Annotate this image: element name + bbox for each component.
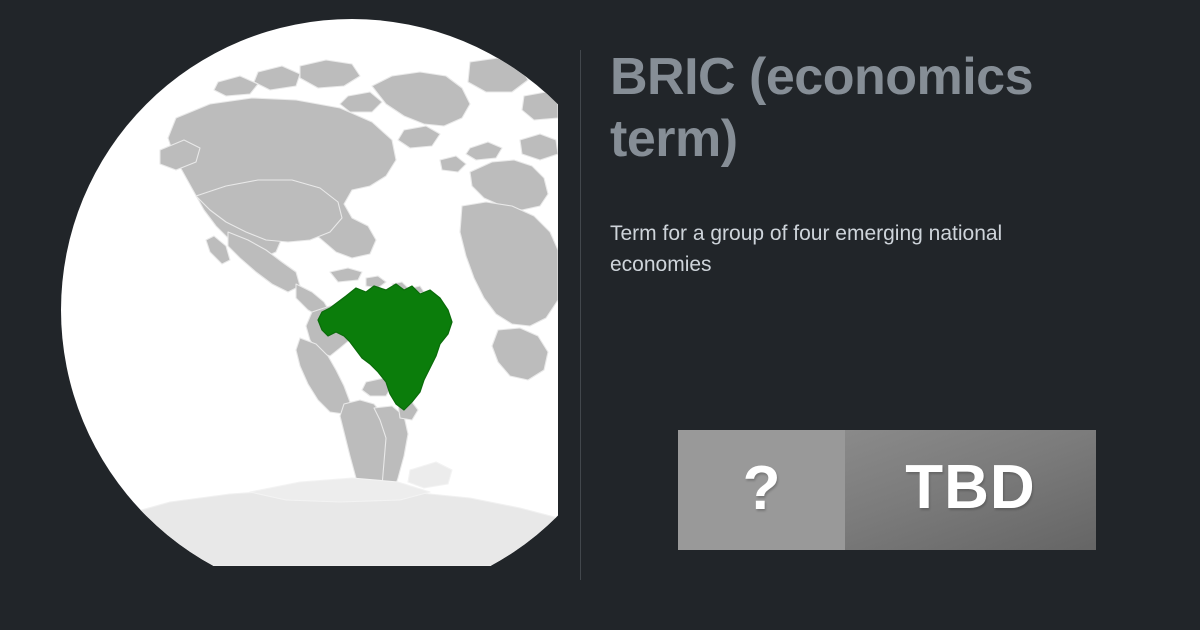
question-mark-icon: ? (743, 458, 781, 520)
badge-symbol-cell: ? (678, 430, 845, 550)
page-title: BRIC (economics term) (610, 46, 1170, 170)
content-column: BRIC (economics term) Term for a group o… (610, 0, 1170, 630)
badge-label: TBD (905, 457, 1035, 519)
status-badge: ? TBD (678, 430, 1096, 550)
info-card: BRIC (economics term) Term for a group o… (0, 0, 1200, 630)
globe-map-panel (0, 0, 558, 566)
globe-orthographic-map (0, 0, 558, 566)
page-description: Term for a group of four emerging nation… (610, 218, 1030, 280)
vertical-divider (580, 50, 581, 580)
badge-label-cell: TBD (845, 430, 1096, 550)
